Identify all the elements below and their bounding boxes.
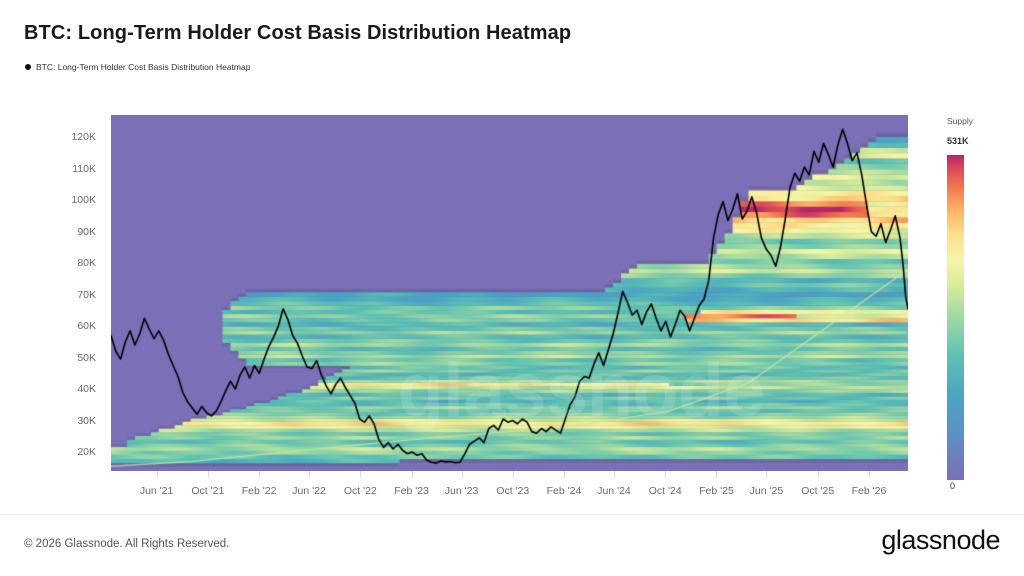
chart-legend: BTC: Long-Term Holder Cost Basis Distrib… bbox=[25, 62, 250, 72]
y-axis: 20K30K40K50K60K70K80K90K100K110K120K bbox=[0, 115, 105, 471]
colorbar-min-label: 0 bbox=[950, 481, 955, 491]
y-axis-tick-label: 20K bbox=[77, 446, 96, 458]
colorbar-gradient bbox=[947, 155, 964, 480]
colorbar-title: Supply bbox=[947, 116, 973, 126]
y-axis-tick-label: 120K bbox=[71, 131, 96, 143]
y-axis-tick-label: 50K bbox=[77, 352, 96, 364]
y-axis-tick-label: 110K bbox=[72, 163, 96, 175]
x-axis-tick-mark bbox=[513, 471, 514, 478]
x-axis-tick-mark bbox=[818, 471, 819, 478]
page-title: BTC: Long-Term Holder Cost Basis Distrib… bbox=[24, 22, 571, 45]
legend-marker-icon bbox=[25, 64, 31, 70]
x-axis-tick-label: Jun '25 bbox=[750, 485, 784, 497]
x-axis-tick-label: Jun '24 bbox=[597, 485, 631, 497]
y-axis-tick-label: 90K bbox=[77, 226, 96, 238]
x-axis-tick-label: Feb '23 bbox=[394, 485, 429, 497]
x-axis-tick-mark bbox=[309, 471, 310, 478]
x-axis-tick-mark bbox=[665, 471, 666, 478]
heatmap-canvas[interactable] bbox=[111, 115, 908, 471]
footer-divider bbox=[0, 514, 1024, 515]
y-axis-tick-label: 100K bbox=[71, 194, 96, 206]
x-axis-tick-mark bbox=[766, 471, 767, 478]
x-axis-tick-label: Jun '21 bbox=[140, 485, 174, 497]
x-axis-tick-label: Feb '26 bbox=[852, 485, 887, 497]
x-axis-tick-label: Feb '22 bbox=[242, 485, 277, 497]
x-axis-tick-mark bbox=[360, 471, 361, 478]
legend-series-label: BTC: Long-Term Holder Cost Basis Distrib… bbox=[36, 62, 250, 72]
y-axis-tick-label: 30K bbox=[77, 415, 96, 427]
chart-page: BTC: Long-Term Holder Cost Basis Distrib… bbox=[0, 0, 1024, 576]
x-axis-tick-label: Oct '24 bbox=[649, 485, 682, 497]
y-axis-tick-label: 70K bbox=[77, 289, 96, 301]
brand-wordmark: glassnode bbox=[881, 525, 1000, 556]
y-axis-tick-label: 40K bbox=[77, 383, 96, 395]
x-axis-tick-mark bbox=[462, 471, 463, 478]
x-axis-tick-label: Feb '24 bbox=[547, 485, 582, 497]
x-axis-tick-mark bbox=[614, 471, 615, 478]
colorbar bbox=[947, 155, 964, 480]
copyright-text: © 2026 Glassnode. All Rights Reserved. bbox=[24, 538, 229, 550]
plot-area[interactable]: glassnode bbox=[111, 115, 908, 471]
x-axis-tick-label: Jun '22 bbox=[292, 485, 326, 497]
y-axis-tick-label: 80K bbox=[77, 257, 96, 269]
x-axis-tick-label: Oct '21 bbox=[191, 485, 224, 497]
x-axis-tick-label: Oct '22 bbox=[344, 485, 377, 497]
x-axis-tick-label: Oct '25 bbox=[801, 485, 834, 497]
y-axis-tick-label: 60K bbox=[77, 320, 96, 332]
x-axis-tick-label: Jun '23 bbox=[445, 485, 479, 497]
x-axis-tick-mark bbox=[564, 471, 565, 478]
x-axis-tick-mark bbox=[157, 471, 158, 478]
x-axis-tick-mark bbox=[716, 471, 717, 478]
x-axis: Jun '21Oct '21Feb '22Jun '22Oct '22Feb '… bbox=[111, 471, 908, 505]
x-axis-tick-label: Feb '25 bbox=[699, 485, 734, 497]
x-axis-tick-mark bbox=[208, 471, 209, 478]
x-axis-tick-mark bbox=[259, 471, 260, 478]
x-axis-tick-mark bbox=[412, 471, 413, 478]
colorbar-max-label: 531K bbox=[947, 136, 969, 146]
x-axis-tick-label: Oct '23 bbox=[496, 485, 529, 497]
x-axis-tick-mark bbox=[869, 471, 870, 478]
